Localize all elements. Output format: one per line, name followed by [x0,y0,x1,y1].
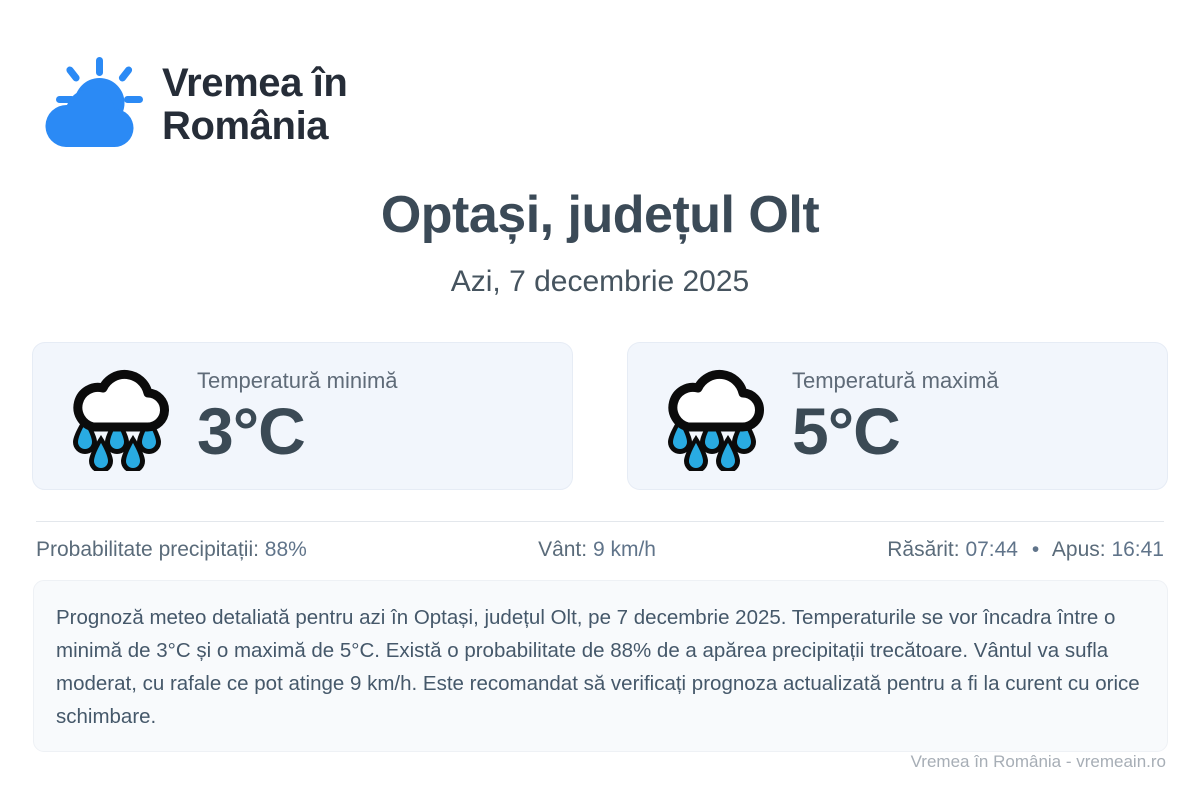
precipitation-stat: Probabilitate precipitații: 88% [36,538,307,562]
precipitation-label: Probabilitate precipitații: [36,538,259,561]
max-temperature-card: Temperatură maximă 5°C [627,342,1168,490]
max-temperature-label: Temperatură maximă [792,368,999,394]
weather-stats-row: Probabilitate precipitații: 88% Vânt: 9 … [36,538,1164,562]
site-logo-text: Vremea în România [162,62,347,148]
sun-behind-cloud-icon [36,55,144,155]
min-temperature-value: 3°C [197,397,398,466]
sunrise-label: Răsărit: [887,538,959,561]
wind-value: 9 km/h [593,538,656,561]
weather-page: Vremea în România Optași, județul Olt Az… [0,0,1200,800]
sunset-label: Apus: [1052,538,1106,561]
forecast-description-box: Prognoză meteo detaliată pentru azi în O… [33,580,1168,752]
rain-cloud-icon [59,361,179,471]
wind-stat: Vânt: 9 km/h [307,538,887,562]
max-temperature-body: Temperatură maximă 5°C [792,366,999,466]
section-divider [36,521,1164,522]
page-title: Optași, județul Olt [0,185,1200,245]
page-date: Azi, 7 decembrie 2025 [0,265,1200,299]
min-temperature-card: Temperatură minimă 3°C [32,342,573,490]
sun-times-separator: • [1024,538,1047,561]
footer-credit: Vremea în România - vremeain.ro [911,752,1166,772]
min-temperature-body: Temperatură minimă 3°C [197,366,398,466]
forecast-description-text: Prognoză meteo detaliată pentru azi în O… [56,601,1145,733]
precipitation-value: 88% [265,538,307,561]
temperature-cards: Temperatură minimă 3°C [32,342,1168,490]
site-logo[interactable]: Vremea în România [36,55,347,155]
rain-cloud-icon [654,361,774,471]
wind-label: Vânt: [538,538,587,561]
max-temperature-value: 5°C [792,397,999,466]
sunset-value: 16:41 [1111,538,1164,561]
min-temperature-label: Temperatură minimă [197,368,398,394]
sun-times-stat: Răsărit: 07:44 • Apus: 16:41 [887,538,1164,562]
sunrise-value: 07:44 [965,538,1018,561]
